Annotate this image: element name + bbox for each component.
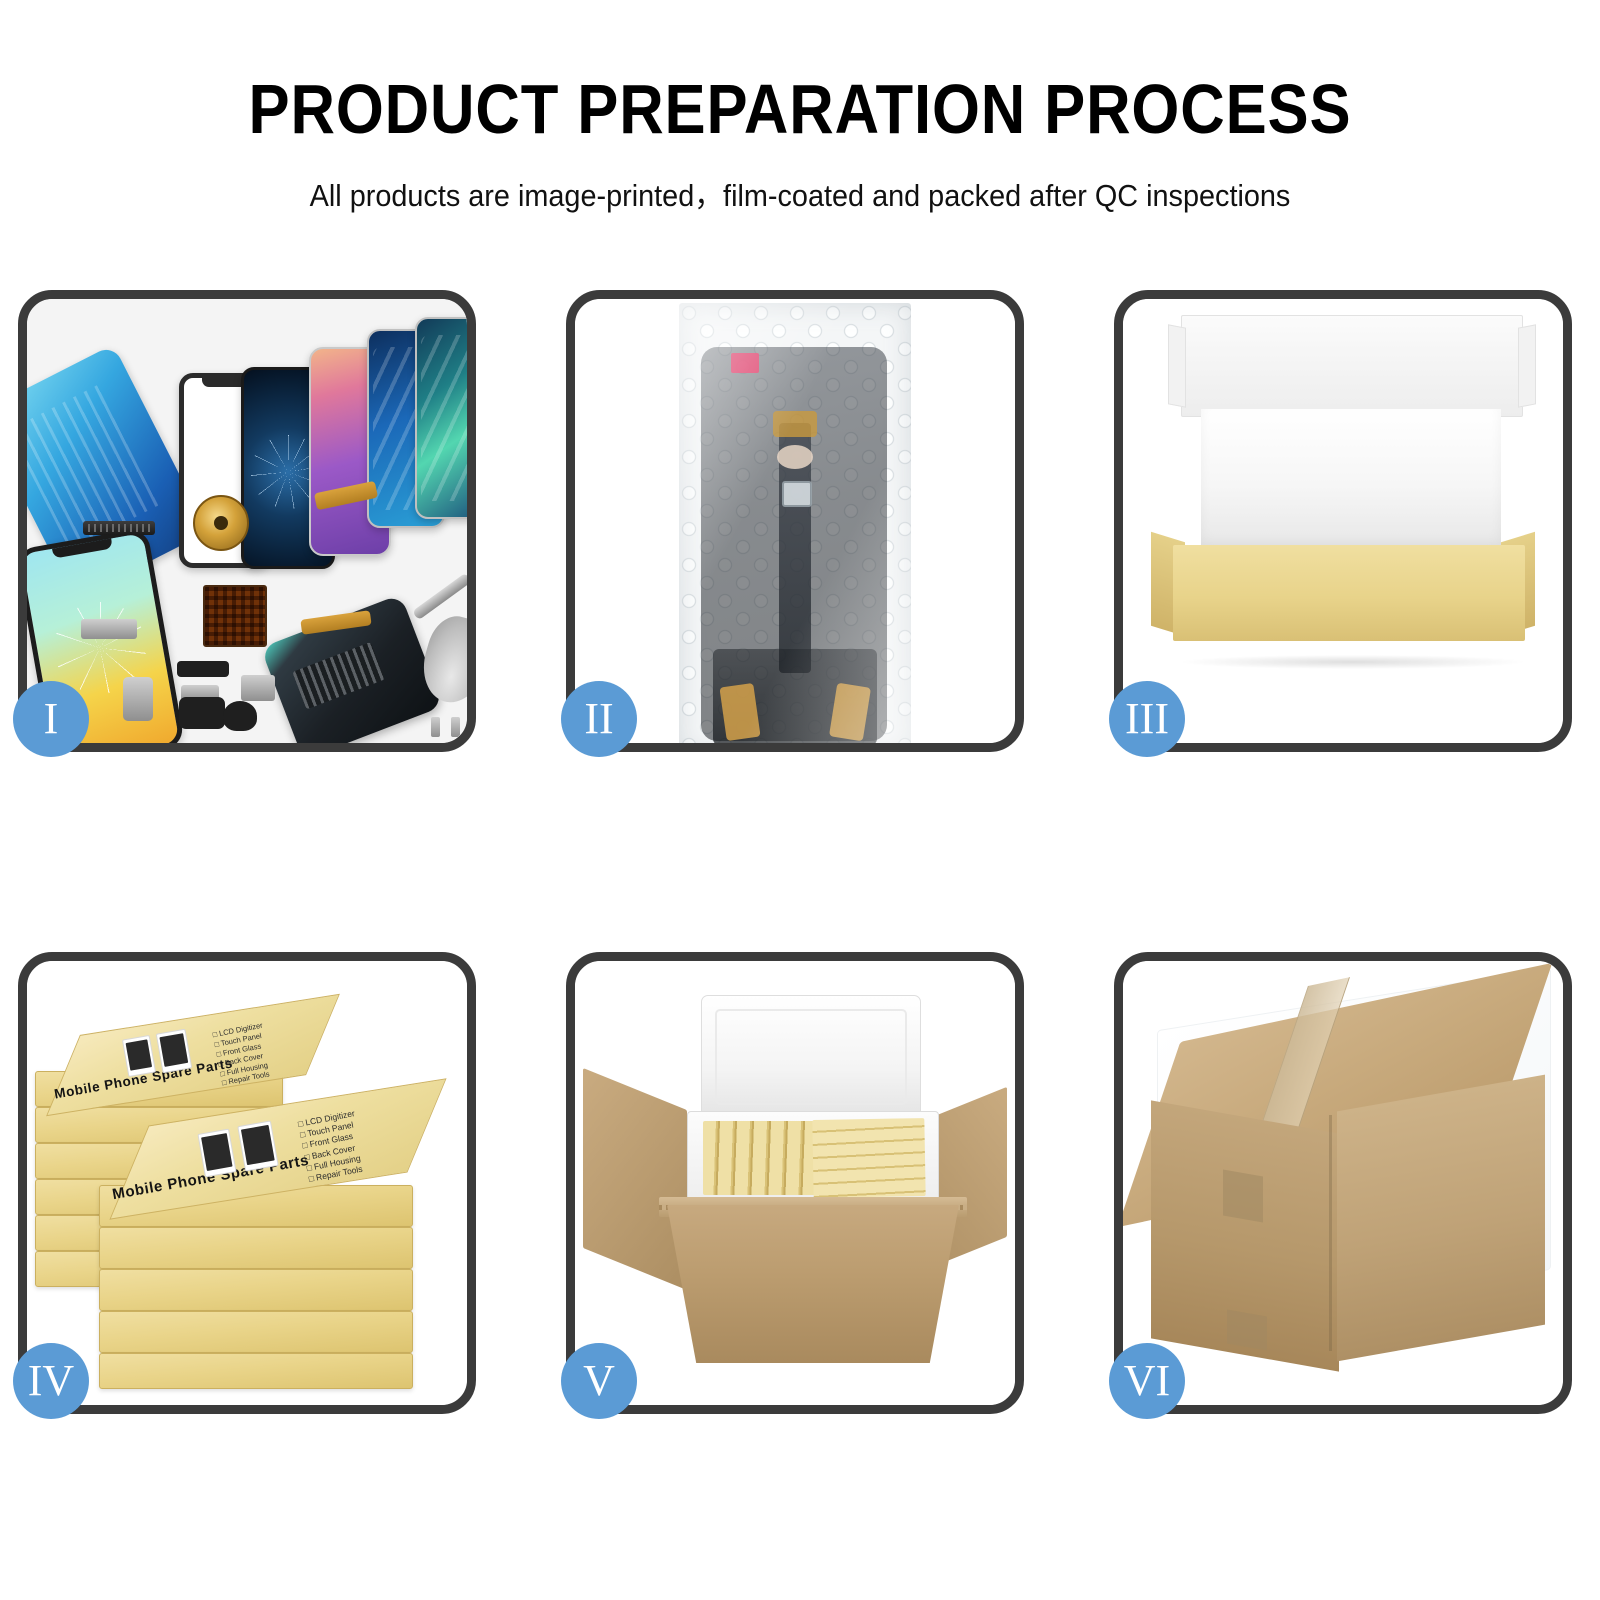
gold-tab-left (719, 683, 760, 741)
step-badge-4: IV (13, 1343, 89, 1419)
round-connector (777, 445, 813, 469)
step-badge-3: III (1109, 681, 1185, 757)
box-front-6 (99, 1353, 413, 1389)
step-4-image: Mobile Phone Spare Parts □ LCD Digitizer… (27, 961, 467, 1405)
foam-cooler-lid (701, 995, 921, 1119)
process-step-panel-5: V (566, 952, 1024, 1414)
step-badge-1: I (13, 681, 89, 757)
bubble-wrap-bag (679, 303, 911, 743)
box-drop-shadow (1183, 655, 1523, 669)
step-badge-5: V (561, 1343, 637, 1419)
screws-set (425, 717, 467, 739)
step-badge-2: II (561, 681, 637, 757)
carton-right-face (1337, 1075, 1545, 1362)
battery-connector-part (177, 661, 229, 677)
square-connector (782, 481, 812, 507)
process-step-panel-4: Mobile Phone Spare Parts □ LCD Digitizer… (18, 952, 476, 1414)
step-badge-6: VI (1109, 1343, 1185, 1419)
wireless-charging-coil (193, 495, 249, 551)
process-step-panel-2: II (566, 290, 1024, 752)
box-checklist-back: □ LCD Digitizer□ Touch Panel□ Front Glas… (212, 1021, 273, 1089)
step-3-image (1123, 299, 1563, 743)
box-lid-white (1181, 315, 1523, 417)
gold-connector (773, 411, 817, 437)
page-header: PRODUCT PREPARATION PROCESS All products… (0, 0, 1600, 215)
carton-tab-upper (1223, 1169, 1263, 1222)
vibration-motor-part (223, 701, 257, 731)
step-2-image (575, 299, 1015, 743)
gold-boxes-row-2 (812, 1118, 925, 1198)
retail-box-stack: Mobile Phone Spare Parts □ LCD Digitizer… (35, 999, 467, 1389)
page-subtitle: All products are image-printed，film-coat… (56, 170, 1544, 215)
box-front-4 (99, 1269, 413, 1311)
page-title: PRODUCT PREPARATION PROCESS (96, 74, 1504, 144)
sim-tray-part (123, 677, 153, 721)
small-part-1 (81, 619, 137, 639)
phone-screen-teal (415, 317, 467, 519)
sealed-carton-group (1123, 961, 1563, 1405)
process-step-panel-1: I (18, 290, 476, 752)
small-part-3 (241, 675, 275, 701)
process-step-panel-6: VI (1114, 952, 1572, 1414)
carton-corner-seam (1329, 1115, 1332, 1351)
kraft-box-front (1173, 545, 1525, 641)
foam-sheet-padding (1201, 409, 1501, 549)
box-front-3 (99, 1227, 413, 1269)
step-6-image (1123, 961, 1563, 1405)
carton-front-panel (667, 1205, 959, 1363)
ic-chip-component (203, 585, 267, 647)
carton-flap-left (583, 1068, 687, 1290)
step-1-image (27, 299, 467, 743)
box-front-5 (99, 1311, 413, 1353)
earpiece-speaker-mesh (83, 521, 155, 535)
repair-tool-tweezers (412, 573, 467, 621)
process-step-panel-3: III (1114, 290, 1572, 752)
camera-module-part (179, 697, 225, 729)
qc-pink-label (731, 353, 759, 373)
box-checklist-front: □ LCD Digitizer□ Touch Panel□ Front Glas… (297, 1108, 366, 1185)
process-steps-grid: I II (18, 290, 1594, 1414)
carton-tab-lower (1227, 1309, 1267, 1350)
step-5-image (575, 961, 1015, 1405)
